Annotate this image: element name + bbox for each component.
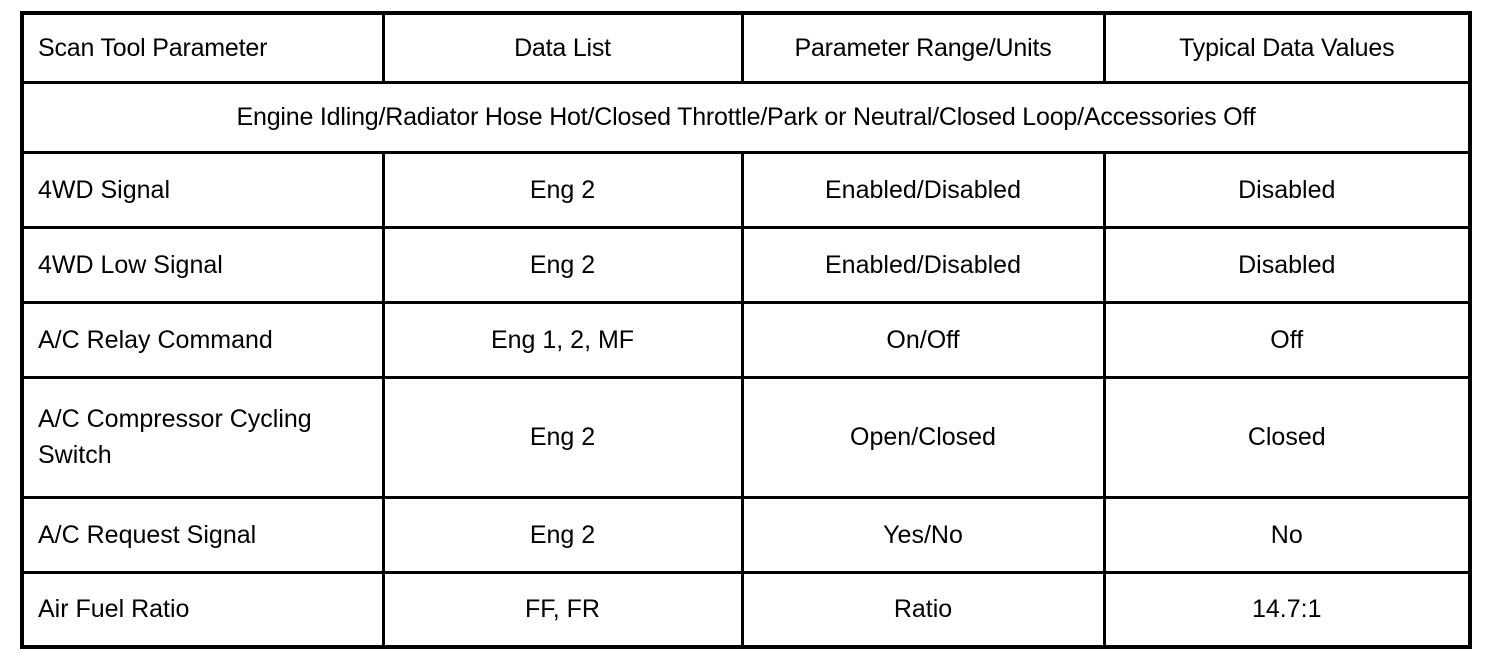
- table-row: A/C Request Signal Eng 2 Yes/No No: [22, 497, 1470, 572]
- cell-range-units: On/Off: [742, 302, 1104, 377]
- cell-data-list: Eng 2: [383, 152, 742, 227]
- cell-range-units: Enabled/Disabled: [742, 227, 1104, 302]
- cell-parameter: Air Fuel Ratio: [22, 572, 383, 647]
- table-row: 4WD Low Signal Eng 2 Enabled/Disabled Di…: [22, 227, 1470, 302]
- cell-data-list: Eng 2: [383, 227, 742, 302]
- table-header-row: Scan Tool Parameter Data List Parameter …: [22, 13, 1470, 82]
- cell-parameter: 4WD Signal: [22, 152, 383, 227]
- document-root: Scan Tool Parameter Data List Parameter …: [0, 0, 1504, 654]
- cell-parameter-text: A/C Compressor Cycling Switch: [38, 401, 368, 474]
- column-header-data-list: Data List: [383, 13, 742, 82]
- cell-range-units: Yes/No: [742, 497, 1104, 572]
- cell-typical-value: Disabled: [1104, 227, 1470, 302]
- cell-range-units: Open/Closed: [742, 377, 1104, 497]
- cell-data-list: FF, FR: [383, 572, 742, 647]
- table-row: 4WD Signal Eng 2 Enabled/Disabled Disabl…: [22, 152, 1470, 227]
- cell-typical-value: Off: [1104, 302, 1470, 377]
- column-header-scan-tool-parameter: Scan Tool Parameter: [22, 13, 383, 82]
- table-row: A/C Relay Command Eng 1, 2, MF On/Off Of…: [22, 302, 1470, 377]
- cell-data-list: Eng 2: [383, 377, 742, 497]
- cell-data-list: Eng 2: [383, 497, 742, 572]
- cell-parameter: A/C Request Signal: [22, 497, 383, 572]
- table-row: A/C Compressor Cycling Switch Eng 2 Open…: [22, 377, 1470, 497]
- table-header: Scan Tool Parameter Data List Parameter …: [22, 13, 1470, 82]
- test-condition-text: Engine Idling/Radiator Hose Hot/Closed T…: [22, 82, 1470, 152]
- cell-typical-value: Closed: [1104, 377, 1470, 497]
- column-header-parameter-range-units: Parameter Range/Units: [742, 13, 1104, 82]
- cell-typical-value: No: [1104, 497, 1470, 572]
- cell-range-units: Enabled/Disabled: [742, 152, 1104, 227]
- scan-tool-parameter-table: Scan Tool Parameter Data List Parameter …: [20, 11, 1472, 649]
- cell-typical-value: Disabled: [1104, 152, 1470, 227]
- cell-parameter: A/C Compressor Cycling Switch: [22, 377, 383, 497]
- cell-parameter: 4WD Low Signal: [22, 227, 383, 302]
- cell-parameter: A/C Relay Command: [22, 302, 383, 377]
- test-condition-row: Engine Idling/Radiator Hose Hot/Closed T…: [22, 82, 1470, 152]
- table-row: Air Fuel Ratio FF, FR Ratio 14.7:1: [22, 572, 1470, 647]
- cell-range-units: Ratio: [742, 572, 1104, 647]
- table-body: Engine Idling/Radiator Hose Hot/Closed T…: [22, 82, 1470, 647]
- cell-typical-value: 14.7:1: [1104, 572, 1470, 647]
- cell-data-list: Eng 1, 2, MF: [383, 302, 742, 377]
- column-header-typical-data-values: Typical Data Values: [1104, 13, 1470, 82]
